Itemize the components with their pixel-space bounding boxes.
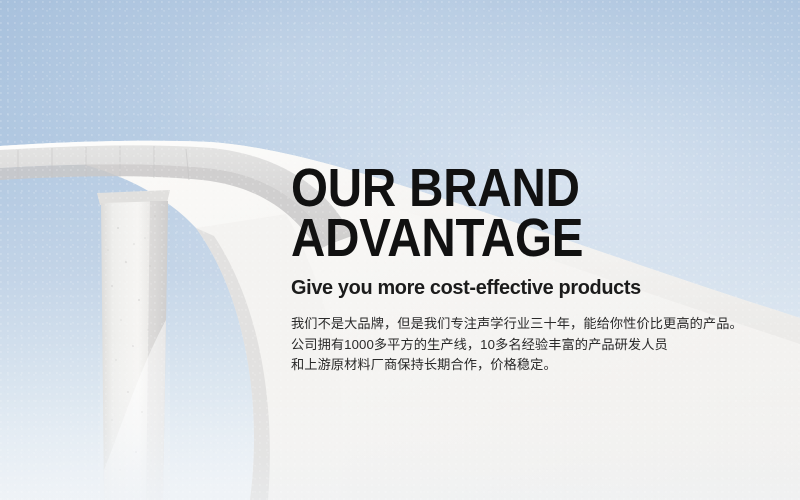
headline-line-1: OUR BRAND xyxy=(291,163,705,213)
body-line-1: 我们不是大品牌，但是我们专注声学行业三十年，能给你性价比更高的产品。 xyxy=(291,314,761,335)
body-line-3: 和上游原材料厂商保持长期合作，价格稳定。 xyxy=(291,355,761,376)
headline-line-2: ADVANTAGE xyxy=(291,213,705,263)
subheadline: Give you more cost-effective products xyxy=(291,276,747,300)
banner-copy: OUR BRAND ADVANTAGE Give you more cost-e… xyxy=(291,163,761,376)
brand-advantage-banner: OUR BRAND ADVANTAGE Give you more cost-e… xyxy=(0,0,800,500)
body-line-2: 公司拥有1000多平方的生产线，10多名经验丰富的产品研发人员 xyxy=(291,335,761,356)
body-copy: 我们不是大品牌，但是我们专注声学行业三十年，能给你性价比更高的产品。 公司拥有1… xyxy=(291,314,761,376)
